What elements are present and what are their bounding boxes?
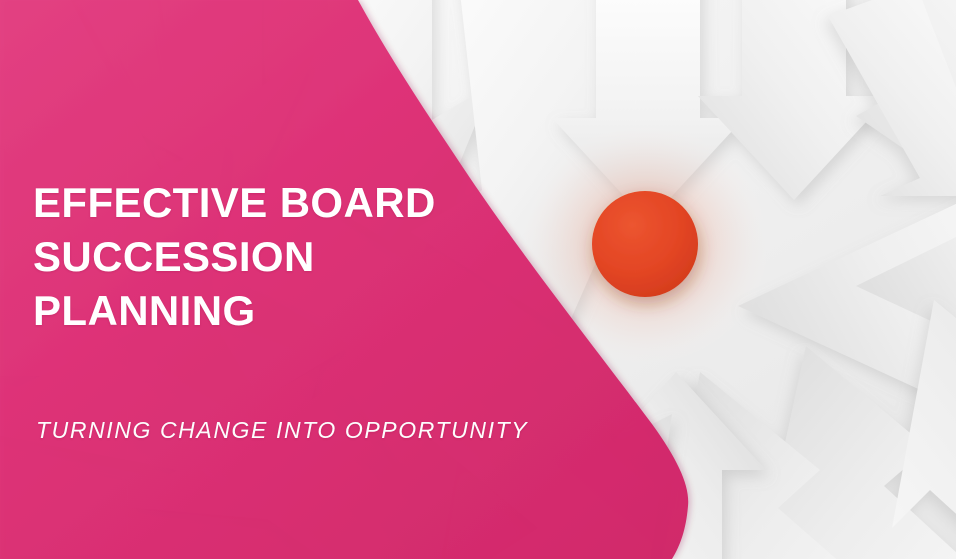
slide-subtitle: TURNING CHANGE INTO OPPORTUNITY [36, 415, 528, 445]
page-title: EFFECTIVE BOARD SUCCESSION PLANNING [33, 176, 593, 338]
slide-canvas: EFFECTIVE BOARD SUCCESSION PLANNING TURN… [0, 0, 956, 559]
red-circle-icon [592, 191, 698, 297]
title-block: EFFECTIVE BOARD SUCCESSION PLANNING [33, 176, 593, 338]
